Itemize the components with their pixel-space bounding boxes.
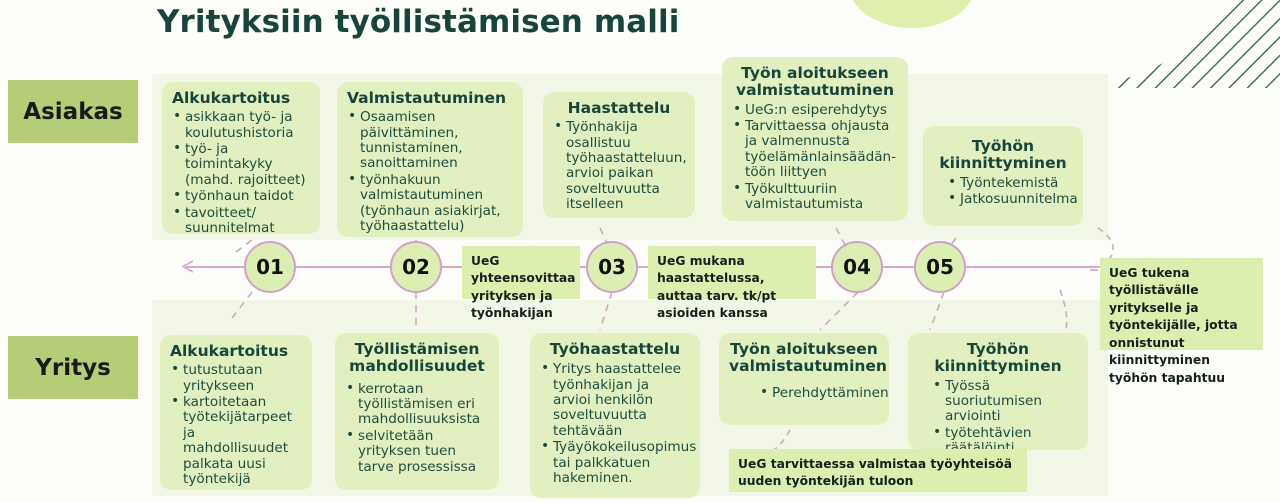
timeline-step-02[interactable]: 02 <box>390 241 442 293</box>
list-item: Osaamisen päivittäminen, tunnistaminen, … <box>347 110 513 171</box>
list-item: kerrotaan työllistämisen eri mahdollisuu… <box>345 382 489 428</box>
customer-card-2[interactable]: Valmistautuminen Osaamisen päivittäminen… <box>337 82 523 237</box>
customer-card-5-list: Työntekemistä Jatkosuunnitelma <box>933 176 1073 208</box>
list-item: työnhaun taidot <box>172 189 310 204</box>
list-item: Tarvittaessa ohjausta ja valmennusta työ… <box>732 119 898 180</box>
list-item: työnhakuun valmistautuminen (työnhaun as… <box>347 173 513 234</box>
callout-workplace-prep: UeG tarvittaessa valmistaa työyhteisöä u… <box>729 449 1027 492</box>
company-card-2[interactable]: Työllistämisen mahdollisuudet kerrotaan … <box>335 333 499 490</box>
timeline-step-05[interactable]: 05 <box>914 241 966 293</box>
list-item: työ- ja toimintakyky (mahd. rajoitteet) <box>172 142 310 188</box>
customer-card-3-title: Haastattelu <box>553 100 685 117</box>
company-card-3-list: Yritys haastattelee työnhakijan ja arvio… <box>540 362 690 486</box>
list-item: selvitetään yrityksen tuen tarve prosess… <box>345 429 489 475</box>
company-card-5[interactable]: Työhön kiinnittyminen Työssä suoriutumis… <box>908 333 1088 450</box>
callout-interview-support: UeG mukana haastattelussa, auttaa tarv. … <box>648 246 816 299</box>
list-item: asikkaan työ- ja koulutushistoria <box>172 110 310 141</box>
company-card-3[interactable]: Työhaastattelu Yritys haastattelee työnh… <box>530 333 700 498</box>
customer-card-5[interactable]: Työhön kiinnittyminen Työntekemistä Jatk… <box>923 126 1083 226</box>
customer-card-3[interactable]: Haastattelu Työnhakija osallistuu työhaa… <box>543 92 695 218</box>
company-card-1-title: Alkukartoitus <box>170 343 302 360</box>
customer-card-2-title: Valmistautuminen <box>347 90 513 107</box>
customer-card-4-title: Työn aloitukseen valmistautuminen <box>732 65 898 100</box>
list-item: Työssä suoriutumisen arviointi <box>932 379 1078 425</box>
company-card-4-title: Työn aloitukseen valmistautuminen <box>729 341 879 376</box>
list-item: UeG:n esiperehdytys <box>732 103 898 118</box>
customer-card-4-list: UeG:n esiperehdytys Tarvittaessa ohjaust… <box>732 103 898 213</box>
timeline-arrow-left-icon <box>182 260 194 273</box>
company-card-2-title: Työllistämisen mahdollisuudet <box>345 341 489 376</box>
company-card-5-title: Työhön kiinnittyminen <box>918 341 1078 376</box>
diagram-canvas: Yrityksiin työllistämisen malli Asiakas … <box>0 0 1280 502</box>
customer-card-1-list: asikkaan työ- ja koulutushistoria työ- j… <box>172 110 310 236</box>
customer-card-1-title: Alkukartoitus <box>172 90 310 107</box>
company-card-1[interactable]: Alkukartoitus tutustutaan yritykseen kar… <box>160 335 312 490</box>
company-card-5-list: Työssä suoriutumisen arviointi työtehtäv… <box>918 379 1078 457</box>
customer-card-3-list: Työnhakija osallistuu työhaastatteluun, … <box>553 120 685 212</box>
list-item: Tyäyökokeilusopimus tai palkkatuen hakem… <box>540 440 690 486</box>
company-card-1-list: tutustutaan yritykseen kartoitetaan työt… <box>170 363 302 487</box>
company-card-4-list: Perehdyttäminen <box>729 386 879 401</box>
list-item: Työnhakija osallistuu työhaastatteluun, … <box>553 120 685 212</box>
timeline-step-01[interactable]: 01 <box>244 241 296 293</box>
timeline-step-03[interactable]: 03 <box>586 241 638 293</box>
customer-card-1[interactable]: Alkukartoitus asikkaan työ- ja koulutush… <box>162 82 320 234</box>
callout-matching: UeG yhteensovittaa yrityksen ja työnhaki… <box>462 246 580 299</box>
list-item: Yritys haastattelee työnhakijan ja arvio… <box>540 362 690 439</box>
callout-employment-support: UeG tukena työllistävälle yritykselle ja… <box>1100 258 1263 350</box>
company-card-3-title: Työhaastattelu <box>540 341 690 358</box>
list-item: tavoitteet/ suunnitelmat <box>172 206 310 237</box>
list-item: Työkulttuuriin valmistautumista <box>732 182 898 213</box>
list-item: Työntekemistä <box>947 176 1073 191</box>
company-card-4[interactable]: Työn aloitukseen valmistautuminen Perehd… <box>719 333 889 425</box>
customer-card-4[interactable]: Työn aloitukseen valmistautuminen UeG:n … <box>722 57 908 221</box>
timeline-step-04[interactable]: 04 <box>831 241 883 293</box>
list-item: kartoitetaan työtekijätarpeet ja mahdoll… <box>170 395 302 487</box>
list-item: Perehdyttäminen <box>759 386 879 401</box>
list-item: Jatkosuunnitelma <box>947 192 1073 207</box>
list-item: tutustutaan yritykseen <box>170 363 302 394</box>
customer-card-2-list: Osaamisen päivittäminen, tunnistaminen, … <box>347 110 513 234</box>
customer-card-5-title: Työhön kiinnittyminen <box>933 138 1073 173</box>
company-card-2-list: kerrotaan työllistämisen eri mahdollisuu… <box>345 382 489 475</box>
